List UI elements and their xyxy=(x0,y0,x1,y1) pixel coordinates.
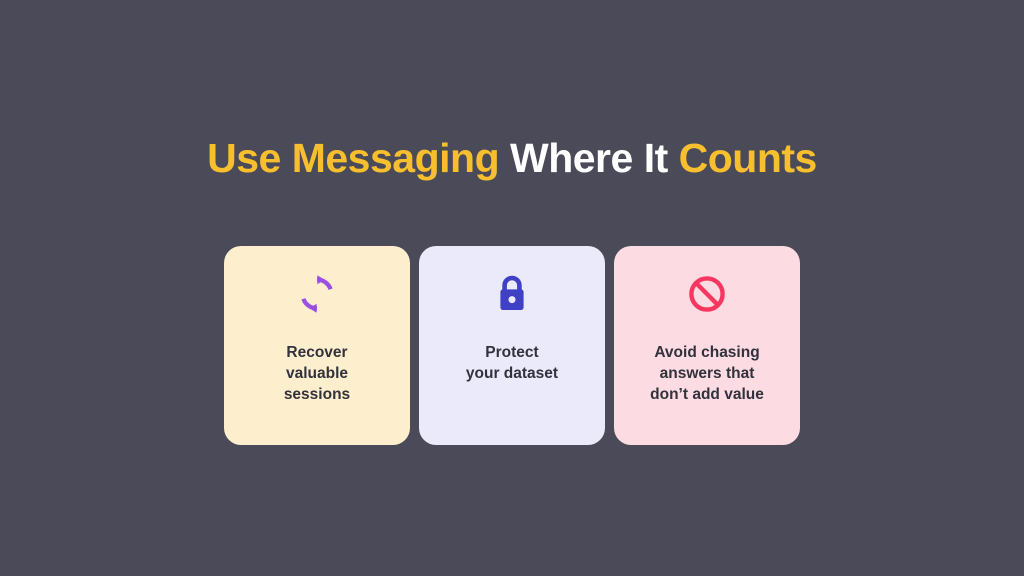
refresh-cycle-icon xyxy=(297,274,337,314)
card-avoid-chasing[interactable]: Avoid chasing answers that don’t add val… xyxy=(614,246,800,445)
prohibition-icon xyxy=(687,274,727,314)
card-recover-sessions[interactable]: Recover valuable sessions xyxy=(224,246,410,445)
card-row: Recover valuable sessions Protect your d… xyxy=(224,246,800,445)
title-segment-2: Where It xyxy=(510,135,679,181)
card-label: Recover valuable sessions xyxy=(224,342,410,405)
page-title: Use Messaging Where It Counts xyxy=(0,130,1024,186)
card-label: Avoid chasing answers that don’t add val… xyxy=(614,342,800,405)
title-segment-1: Use Messaging xyxy=(207,135,510,181)
slide-canvas: Use Messaging Where It Counts Recover va… xyxy=(0,0,1024,576)
card-label: Protect your dataset xyxy=(419,342,605,384)
lock-icon xyxy=(492,274,532,314)
card-protect-dataset[interactable]: Protect your dataset xyxy=(419,246,605,445)
title-segment-3: Counts xyxy=(679,135,817,181)
